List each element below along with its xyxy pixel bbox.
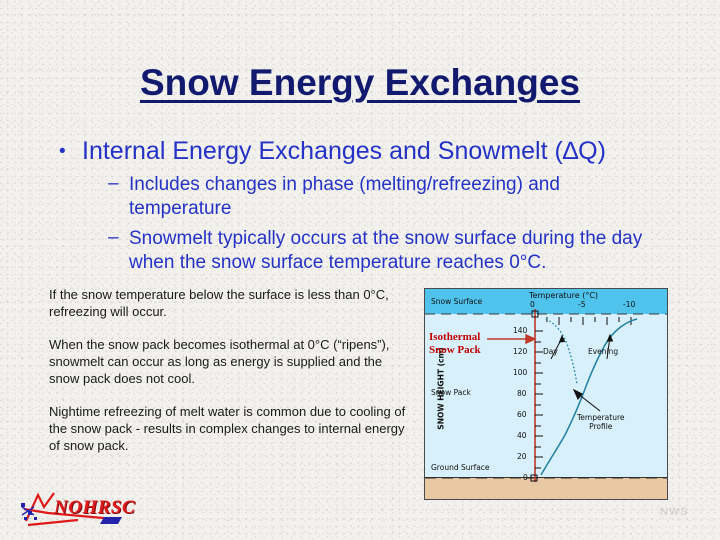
nohrsc-logo: NOHRSC [18,487,138,533]
y-axis-ticks [531,331,543,481]
label-day: Day [543,347,558,356]
bullet-level2-2-line1: Snowmelt typically occurs at the snow su… [129,227,692,251]
bullet-level2-1-line1: Includes changes in phase (melting/refre… [129,173,692,197]
label-isothermal-snow-pack: Isothermal Snow Pack [429,331,481,357]
ytick-label-100: 100 [513,368,527,377]
label-temperature-profile: Temperature Profile [577,413,625,431]
x-axis-ticks [532,311,631,325]
ytick-label-140: 140 [513,326,527,335]
label-temperature-profile-line1: Temperature [577,413,625,422]
ytick-label-80: 80 [517,389,527,398]
paragraph-2: When the snow pack becomes isothermal at… [49,336,409,387]
bullet-list: • Internal Energy Exchanges and Snowmelt… [52,136,692,275]
paragraph-1: If the snow temperature below the surfac… [49,286,409,320]
body-text-block: If the snow temperature below the surfac… [49,286,409,454]
bullet-marker-icon: • [59,136,66,167]
dash-marker-icon: – [108,172,119,196]
paragraph-3: Nightime refreezing of melt water is com… [49,403,409,454]
bullet-level1: • Internal Energy Exchanges and Snowmelt… [52,136,692,167]
xtick-label-minus5: -5 [578,300,585,309]
label-snow-surface: Snow Surface [431,297,482,306]
bullet-level2-1-line2: temperature [129,197,692,221]
label-y-axis: SNOW HEIGHT (cm) [437,344,446,434]
ytick-label-20: 20 [517,452,527,461]
ytick-label-40: 40 [517,431,527,440]
ytick-label-60: 60 [517,410,527,419]
evening-temperature-curve [541,319,637,475]
label-isothermal-line2: Snow Pack [429,344,481,357]
label-ground-surface: Ground Surface [431,463,490,472]
label-temperature-profile-line2: Profile [577,422,625,431]
xtick-label-0: 0 [530,300,535,309]
isothermal-arrow-icon [487,335,535,343]
ytick-label-0: 0 [523,473,528,482]
xtick-label-minus10: -10 [623,300,635,309]
watermark-text: NWS [660,506,689,518]
label-evening: Evening [588,347,618,356]
label-isothermal-line1: Isothermal [429,331,481,344]
bullet-level2-2: – Snowmelt typically occurs at the snow … [108,227,692,275]
page-title: Snow Energy Exchanges [0,62,720,104]
label-temperature-axis: Temperature (°C) [529,291,598,300]
dash-marker-icon: – [108,226,119,250]
bullet-level2-1: – Includes changes in phase (melting/ref… [108,173,692,221]
snow-temperature-profile-diagram: Snow Surface Snow Pack Ground Surface Te… [424,288,668,500]
bullet-level1-text: Internal Energy Exchanges and Snowmelt (… [82,137,606,165]
ytick-label-120: 120 [513,347,527,356]
logo-text: NOHRSC [54,497,135,519]
bullet-level2-2-line2: when the snow surface temperature reache… [129,251,692,275]
slide-canvas: Snow Energy Exchanges • Internal Energy … [0,0,720,540]
